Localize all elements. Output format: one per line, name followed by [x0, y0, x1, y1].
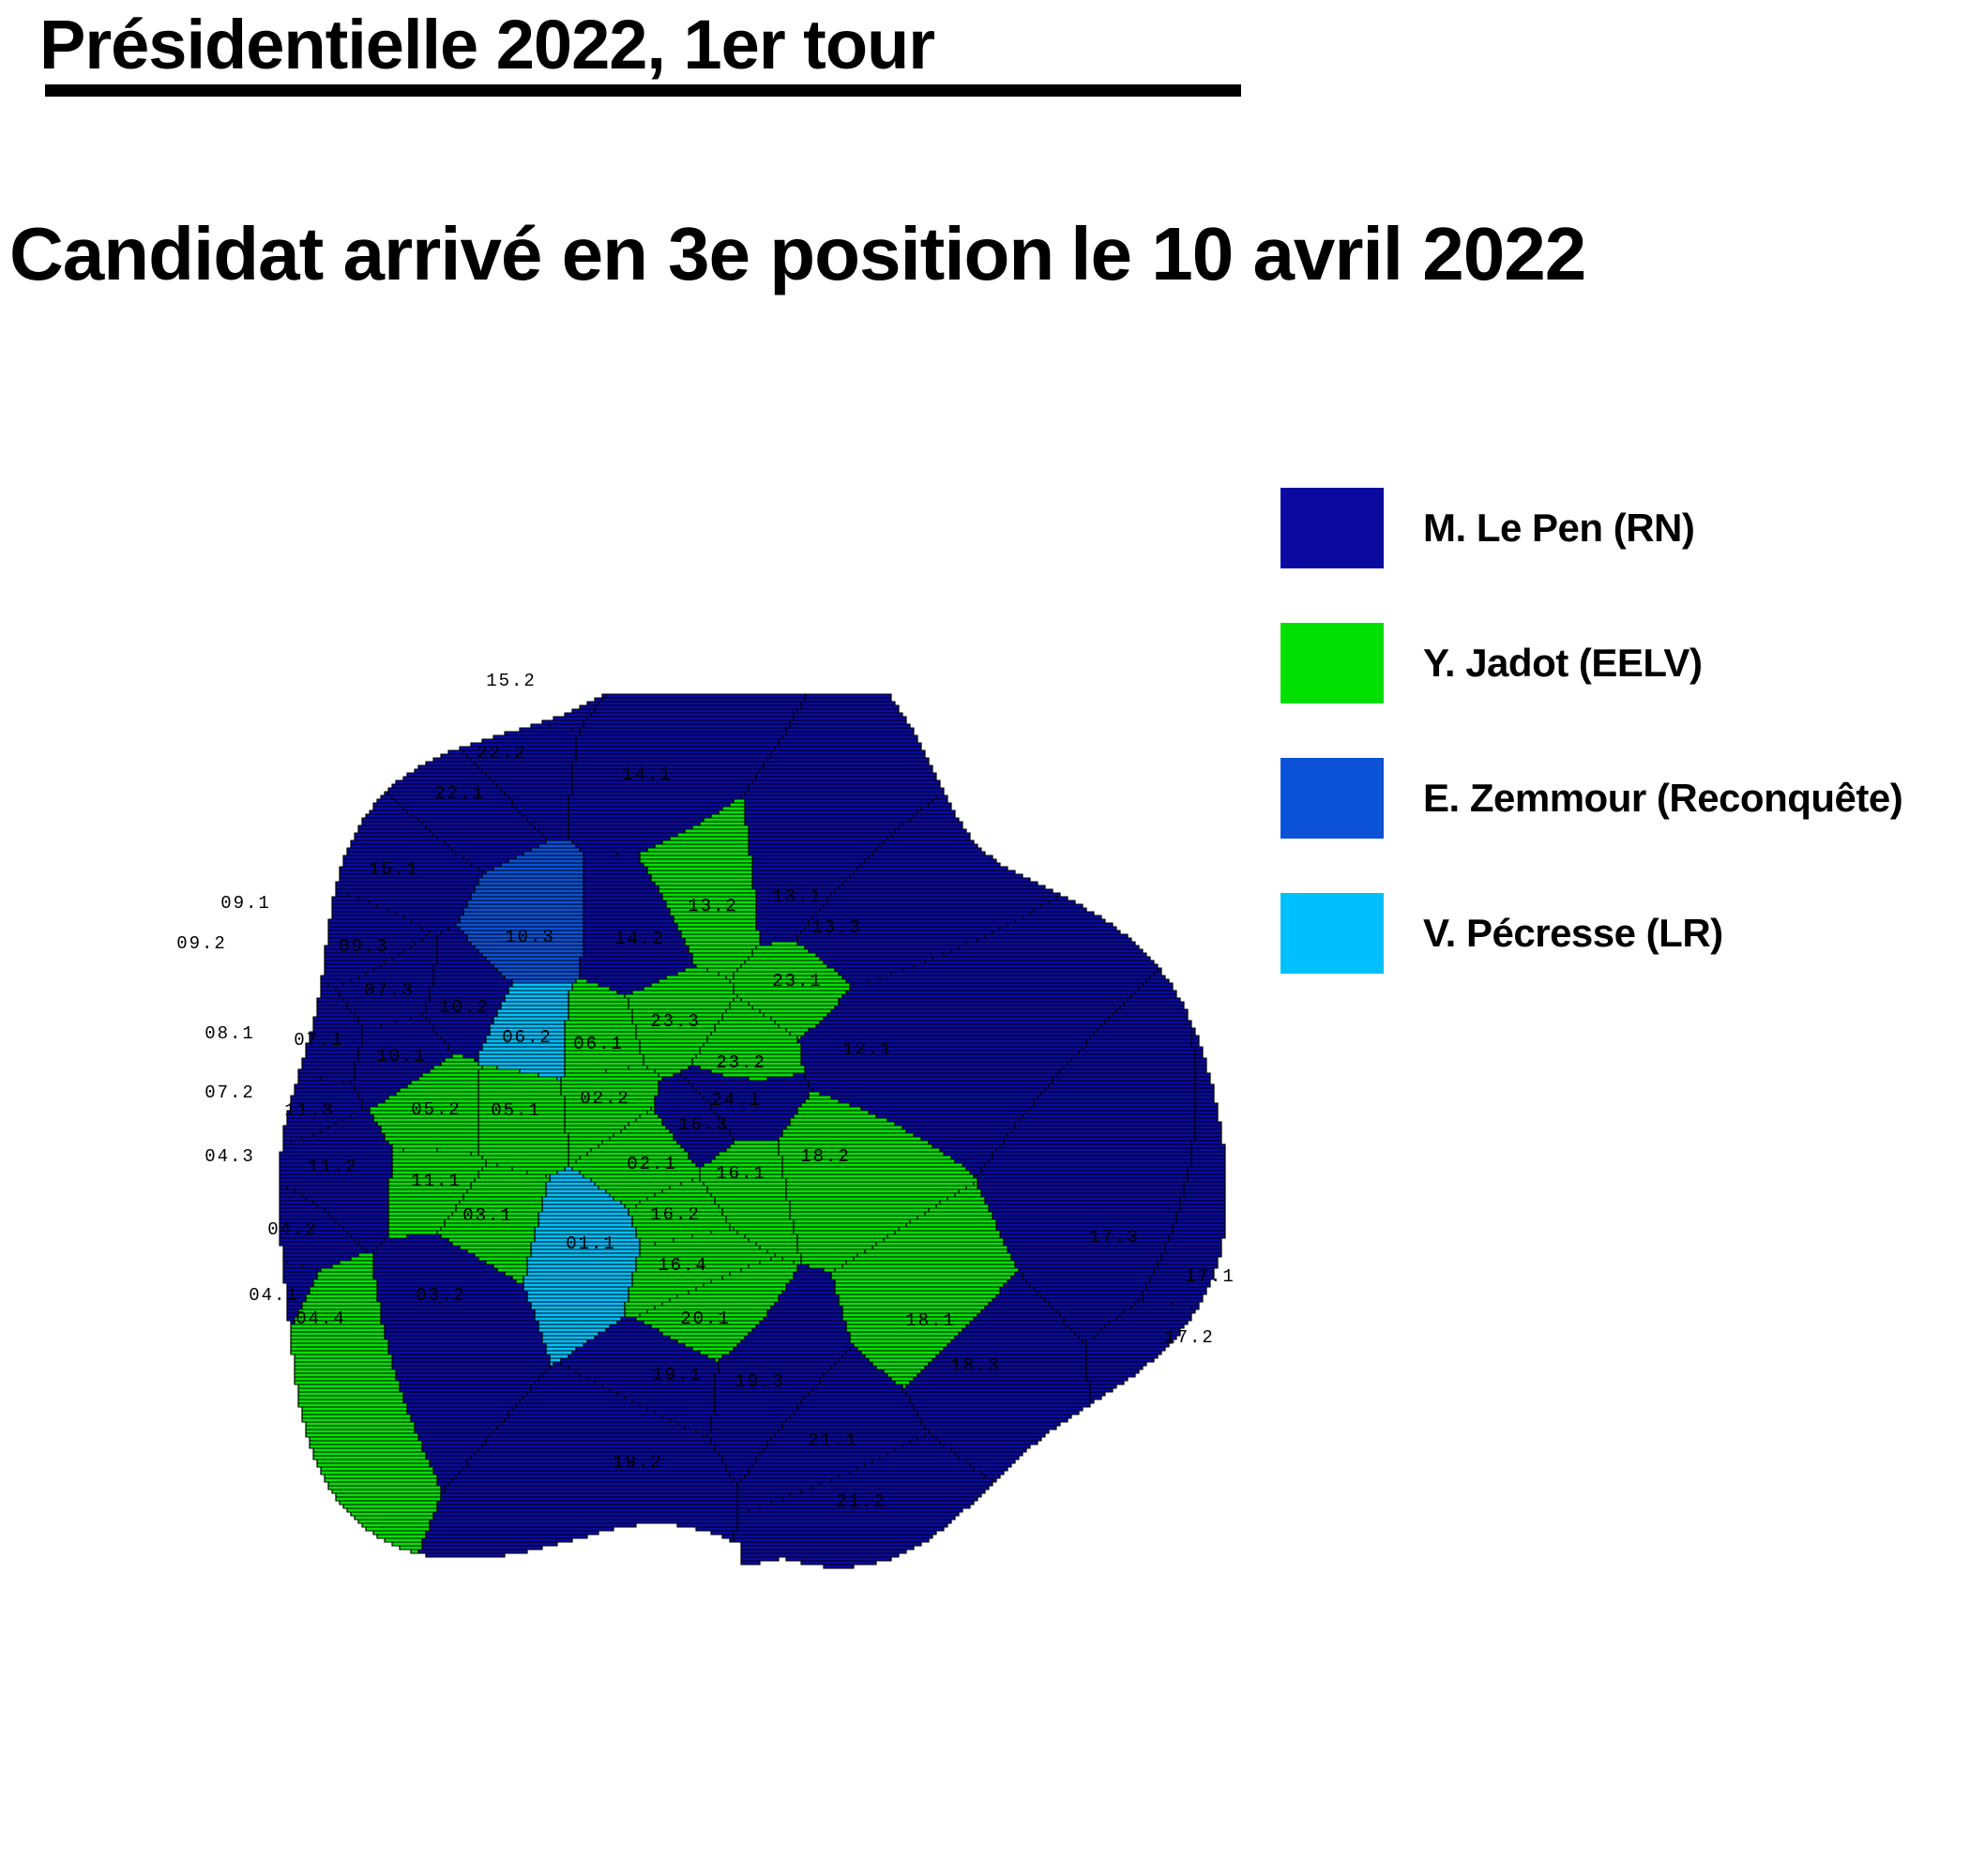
zone-label-09-2: 09.2 [176, 933, 227, 954]
zone-label-08-1: 08.1 [205, 1023, 255, 1044]
legend-swatch-jadot [1280, 623, 1384, 703]
zone-label-07-2: 07.2 [205, 1082, 255, 1103]
zone-shapes-group [280, 694, 1225, 1568]
subtitle-part-b: 3e position [647, 211, 1053, 297]
legend-item-le-pen[interactable]: M. Le Pen (RN) [1280, 488, 1956, 568]
legend-label-pecresse: V. Pécresse (LR) [1423, 911, 1723, 956]
legend-item-pecresse[interactable]: V. Pécresse (LR) [1280, 893, 1956, 974]
page-title: Présidentielle 2022, 1er tour [39, 5, 934, 84]
legend-swatch-pecresse [1280, 893, 1384, 974]
zone-label-09-1: 09.1 [220, 893, 271, 914]
subtitle-part-c: le 10 avril 2022 [1053, 211, 1585, 297]
zone-label-15-2: 15.2 [486, 671, 537, 691]
subtitle-part-a: Candidat arrivé en [9, 211, 647, 297]
legend-label-le-pen: M. Le Pen (RN) [1423, 506, 1694, 551]
legend: M. Le Pen (RN) Y. Jadot (EELV) E. Zemmou… [1280, 488, 1956, 1028]
legend-swatch-zemmour [1280, 758, 1384, 839]
legend-label-zemmour: E. Zemmour (Reconquête) [1423, 776, 1902, 821]
legend-label-jadot: Y. Jadot (EELV) [1423, 641, 1702, 686]
map-page: Présidentielle 2022, 1er tour Candidat a… [0, 0, 1970, 1876]
choropleth-map[interactable]: 01.102.102.203.103.204.104.204.304.405.1… [141, 469, 1313, 1857]
map-svg[interactable]: 01.102.102.203.103.204.104.204.304.405.1… [141, 469, 1313, 1857]
map-zone-05-1[interactable] [478, 1066, 568, 1178]
page-subtitle: Candidat arrivé en 3e position le 10 avr… [9, 211, 1970, 297]
legend-swatch-le-pen [1280, 488, 1384, 568]
legend-item-jadot[interactable]: Y. Jadot (EELV) [1280, 623, 1956, 703]
zone-label-04-3: 04.3 [205, 1146, 255, 1167]
title-underline [45, 84, 1241, 97]
legend-item-zemmour[interactable]: E. Zemmour (Reconquête) [1280, 758, 1956, 839]
